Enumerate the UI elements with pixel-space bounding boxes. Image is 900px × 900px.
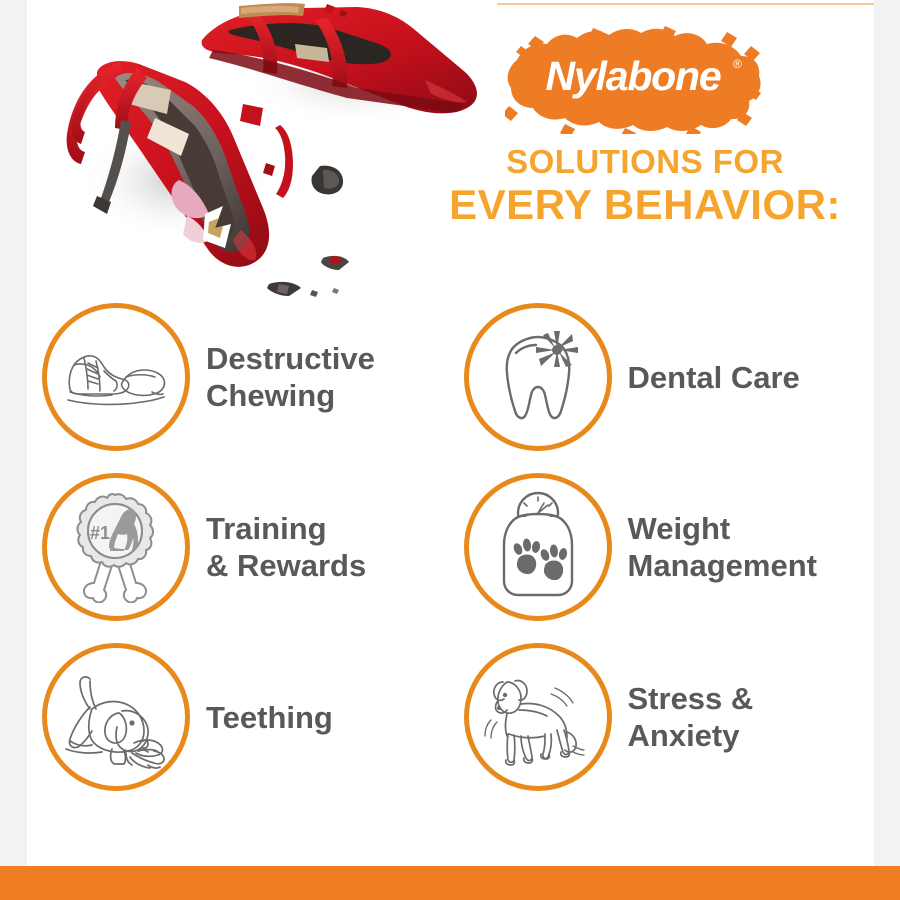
benefit-item-destructive-chewing[interactable]: Destructive Chewing [27,292,451,462]
nylabone-logo: Nylabone ® [505,26,765,134]
benefit-icon-circle: #1 [42,473,190,621]
chewed-shoe-icon [60,337,172,417]
benefit-label: Destructive Chewing [206,340,375,414]
page-title: SOLUTIONS FOR EVERY BEHAVIOR: [420,143,870,229]
svg-text:Nylabone: Nylabone [546,53,721,99]
rank-number-text: #1 [90,523,110,543]
headline-line-1: SOLUTIONS FOR [420,143,870,181]
benefit-item-training-rewards[interactable]: #1 Training & Rewards [27,462,451,632]
benefit-icon-circle [42,643,190,791]
svg-text:®: ® [733,57,742,71]
benefit-item-dental-care[interactable]: Dental Care [451,292,875,462]
shiver-lines [485,688,584,755]
benefits-row-1: Destructive Chewing [27,292,874,462]
benefit-icon-circle [42,303,190,451]
award-ribbon-dog-icon: #1 [64,491,168,603]
logo-wordmark-text: Nylabone ® [546,53,742,99]
benefit-label: Dental Care [628,359,800,396]
benefits-grid: Destructive Chewing [27,292,874,802]
benefit-label: Teething [206,699,333,736]
footer-accent-bar [0,866,900,900]
benefit-label: Training & Rewards [206,510,366,584]
benefit-icon-circle [464,643,612,791]
benefit-item-stress-anxiety[interactable]: Stress & Anxiety [451,632,875,802]
scale-paws-icon [490,491,586,603]
benefits-row-3: Teething [27,632,874,802]
benefit-item-weight-management[interactable]: Weight Management [451,462,875,632]
benefit-label: Stress & Anxiety [628,680,754,754]
puppy-chewing-icon [60,665,172,769]
sparkling-tooth-icon [488,325,588,429]
chew-toy [130,740,164,768]
headline-line-2: EVERY BEHAVIOR: [420,181,870,229]
benefit-icon-circle [464,473,612,621]
benefit-item-teething[interactable]: Teething [27,632,451,802]
poster-canvas: Nylabone ® SOLUTIONS FOR EVERY BEHAVIOR: [0,0,900,900]
benefit-icon-circle [464,303,612,451]
benefit-label: Weight Management [628,510,817,584]
benefits-row-2: #1 Training & Rewards [27,462,874,632]
standing-dog-icon [483,664,593,770]
